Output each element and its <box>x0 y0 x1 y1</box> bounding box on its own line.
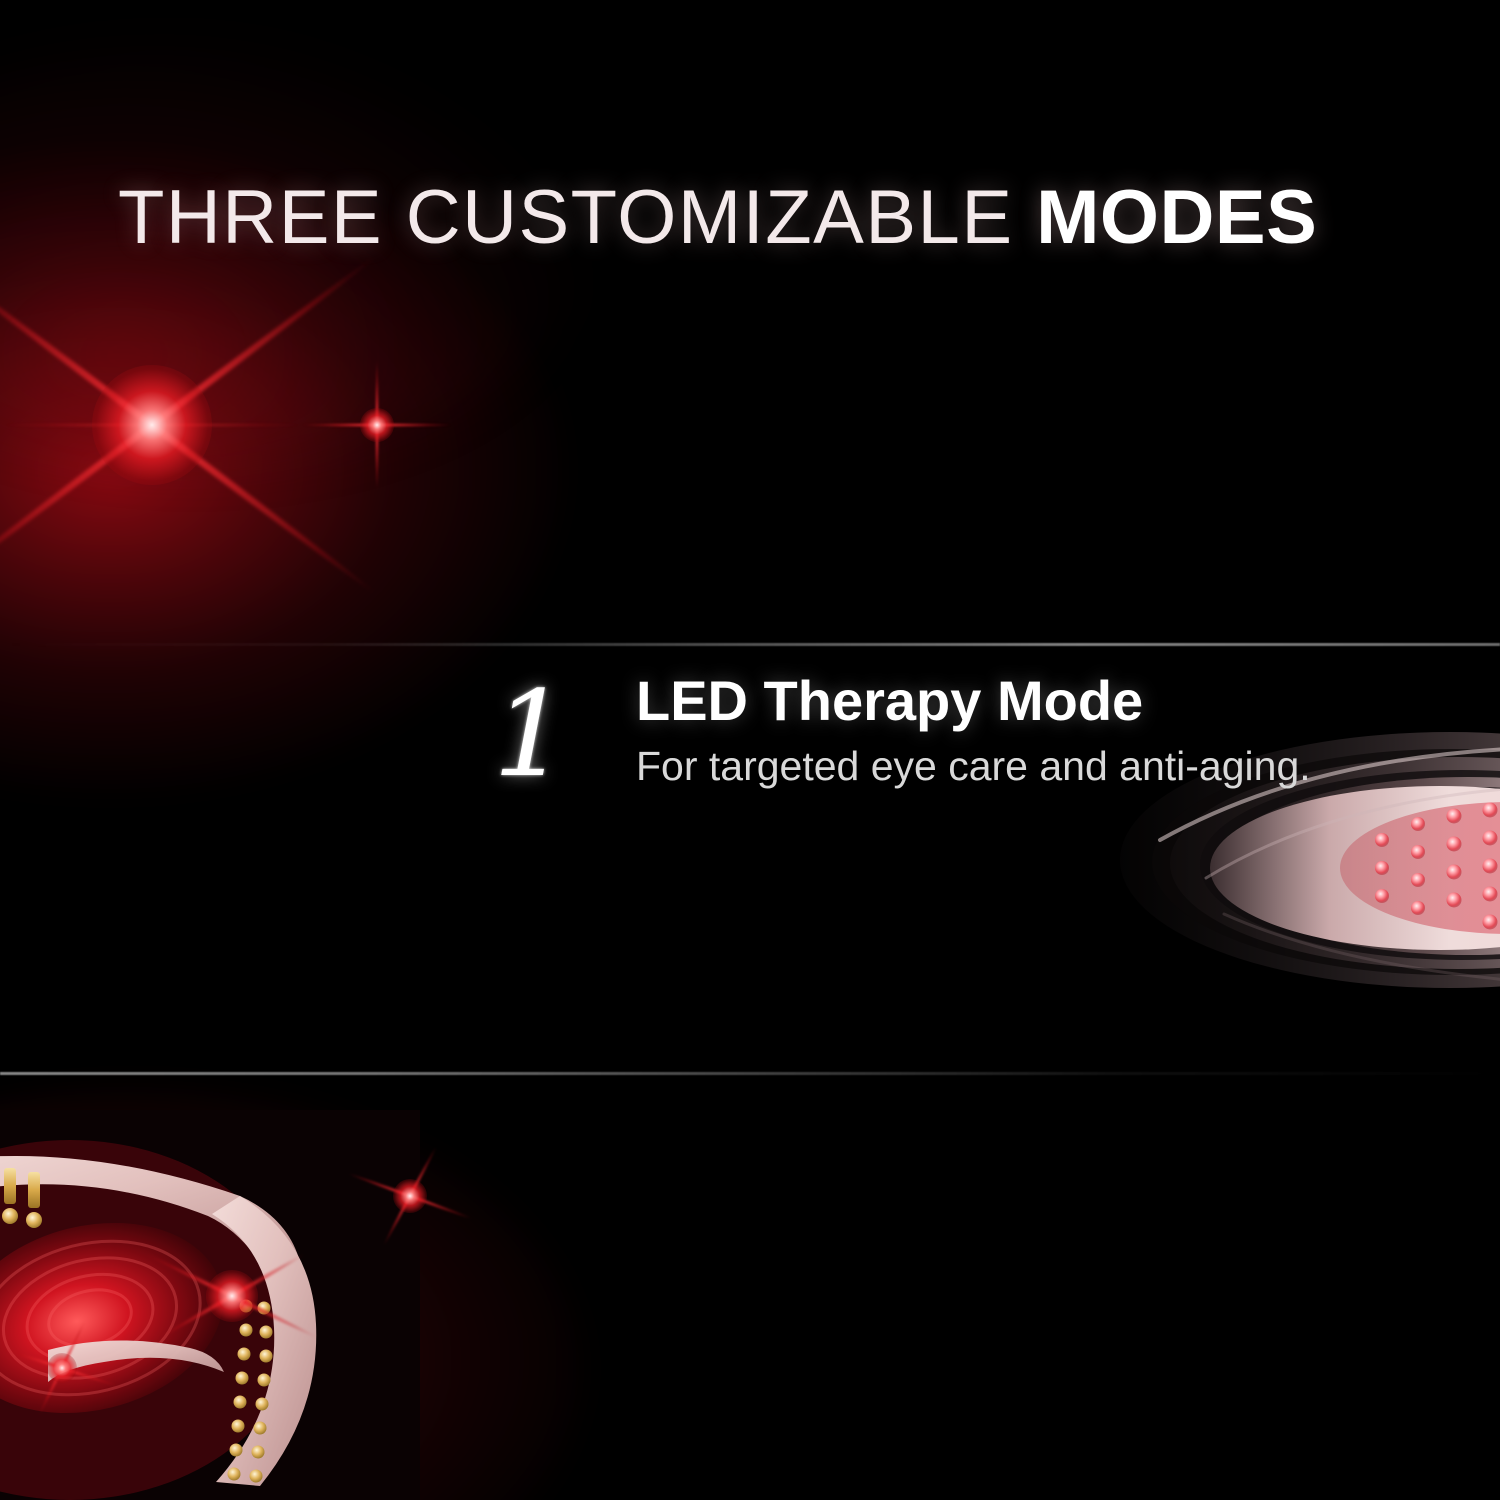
headline-bold-text: MODES <box>1036 175 1317 260</box>
mode-item-led-therapy: 1 LED Therapy Mode For targeted eye care… <box>0 330 1500 590</box>
mode-title-1: LED Therapy Mode <box>636 671 1376 730</box>
mode-item-vibration-massage: 2 Vibration Massage Mode Soothe and rela… <box>0 750 1500 1010</box>
page-title: THREE CUSTOMIZABLE MODES <box>118 180 1408 256</box>
section-divider <box>0 1072 1500 1075</box>
infographic-canvas: THREE CUSTOMIZABLE MODES <box>0 0 1500 1500</box>
section-divider <box>0 643 1500 646</box>
mode-item-combined-therapy: 3 Combined Therapy Mode Best of both wor… <box>0 1130 1500 1450</box>
headline-light-text: THREE CUSTOMIZABLE <box>118 175 1036 260</box>
